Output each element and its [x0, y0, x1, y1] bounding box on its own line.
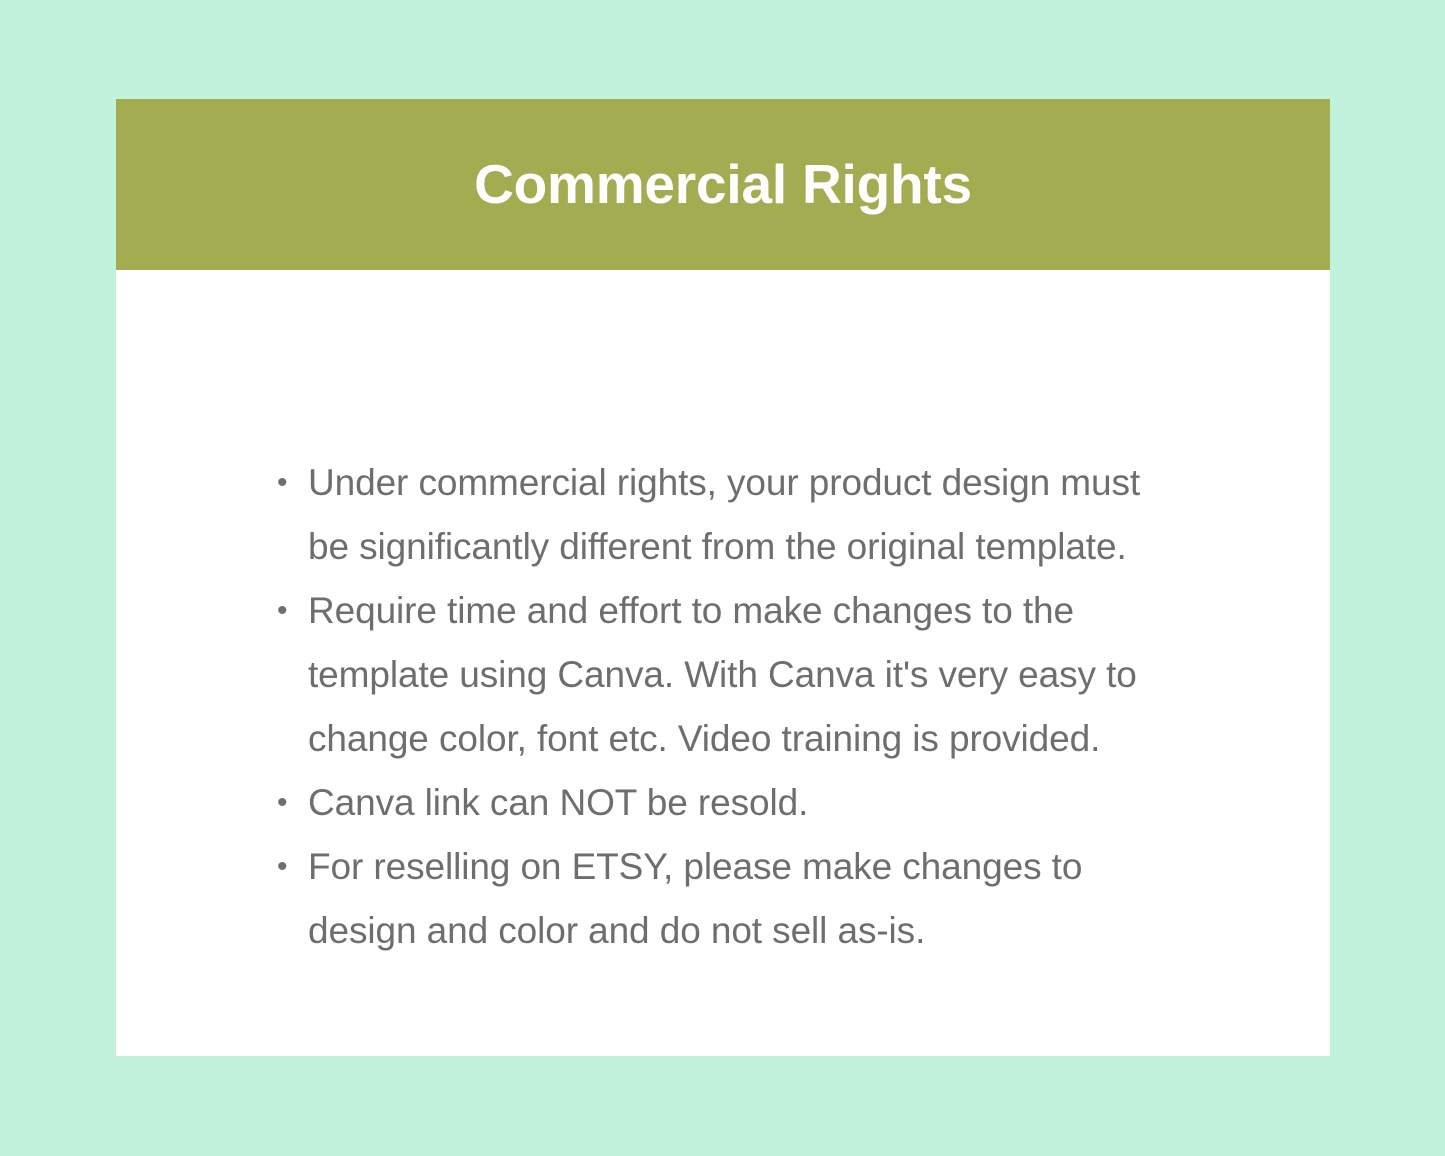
- list-item: • Canva link can NOT be resold.: [277, 771, 1167, 835]
- card-header-band: Commercial Rights: [116, 99, 1330, 270]
- list-item-text: Require time and effort to make changes …: [308, 579, 1167, 771]
- commercial-rights-card: Commercial Rights • Under commercial rig…: [116, 99, 1330, 1056]
- list-item-text: Under commercial rights, your product de…: [308, 451, 1167, 579]
- list-item: • For reselling on ETSY, please make cha…: [277, 835, 1167, 963]
- bullet-point-icon: •: [277, 771, 308, 835]
- list-item: • Require time and effort to make change…: [277, 579, 1167, 771]
- bullet-point-icon: •: [277, 835, 308, 899]
- bullet-point-icon: •: [277, 451, 308, 515]
- list-item-text: For reselling on ETSY, please make chang…: [308, 835, 1167, 963]
- bullet-point-icon: •: [277, 579, 308, 643]
- terms-bullet-list: • Under commercial rights, your product …: [277, 451, 1167, 963]
- page-title: Commercial Rights: [474, 156, 972, 214]
- page-canvas: Commercial Rights • Under commercial rig…: [0, 0, 1445, 1156]
- card-body: • Under commercial rights, your product …: [116, 270, 1330, 1056]
- list-item-text: Canva link can NOT be resold.: [308, 771, 1167, 835]
- list-item: • Under commercial rights, your product …: [277, 451, 1167, 579]
